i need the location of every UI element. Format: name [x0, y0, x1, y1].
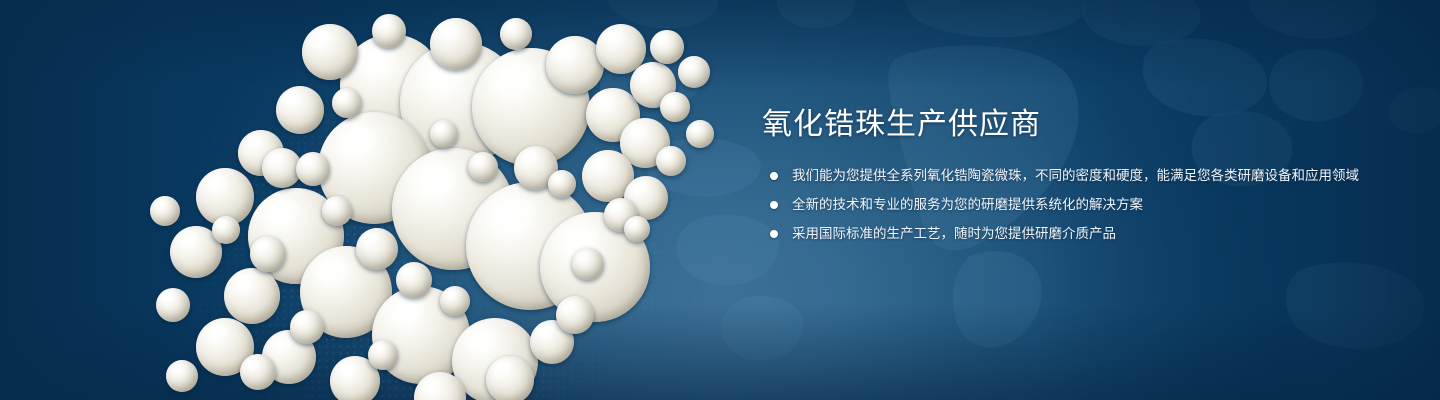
bullet-dot-icon	[770, 172, 778, 180]
feature-list-item: 采用国际标准的生产工艺，随时为您提供研磨介质产品	[762, 222, 1362, 245]
hero-banner: 氧化锆珠生产供应商 我们能为您提供全系列氧化锆陶瓷微珠，不同的密度和硬度，能满足…	[0, 0, 1440, 400]
banner-headline: 氧化锆珠生产供应商	[762, 104, 1362, 146]
zirconia-beads-photo	[0, 0, 760, 400]
bullet-dot-icon	[770, 230, 778, 238]
bullet-dot-icon	[770, 201, 778, 209]
banner-copy: 氧化锆珠生产供应商 我们能为您提供全系列氧化锆陶瓷微珠，不同的密度和硬度，能满足…	[762, 104, 1362, 245]
feature-text: 全新的技术和专业的服务为您的研磨提供系统化的解决方案	[792, 193, 1362, 216]
feature-list-item: 全新的技术和专业的服务为您的研磨提供系统化的解决方案	[762, 193, 1362, 216]
feature-text: 采用国际标准的生产工艺，随时为您提供研磨介质产品	[792, 222, 1362, 245]
banner-feature-list: 我们能为您提供全系列氧化锆陶瓷微珠，不同的密度和硬度，能满足您各类研磨设备和应用…	[762, 164, 1362, 245]
feature-text: 我们能为您提供全系列氧化锆陶瓷微珠，不同的密度和硬度，能满足您各类研磨设备和应用…	[792, 164, 1362, 187]
feature-list-item: 我们能为您提供全系列氧化锆陶瓷微珠，不同的密度和硬度，能满足您各类研磨设备和应用…	[762, 164, 1362, 187]
